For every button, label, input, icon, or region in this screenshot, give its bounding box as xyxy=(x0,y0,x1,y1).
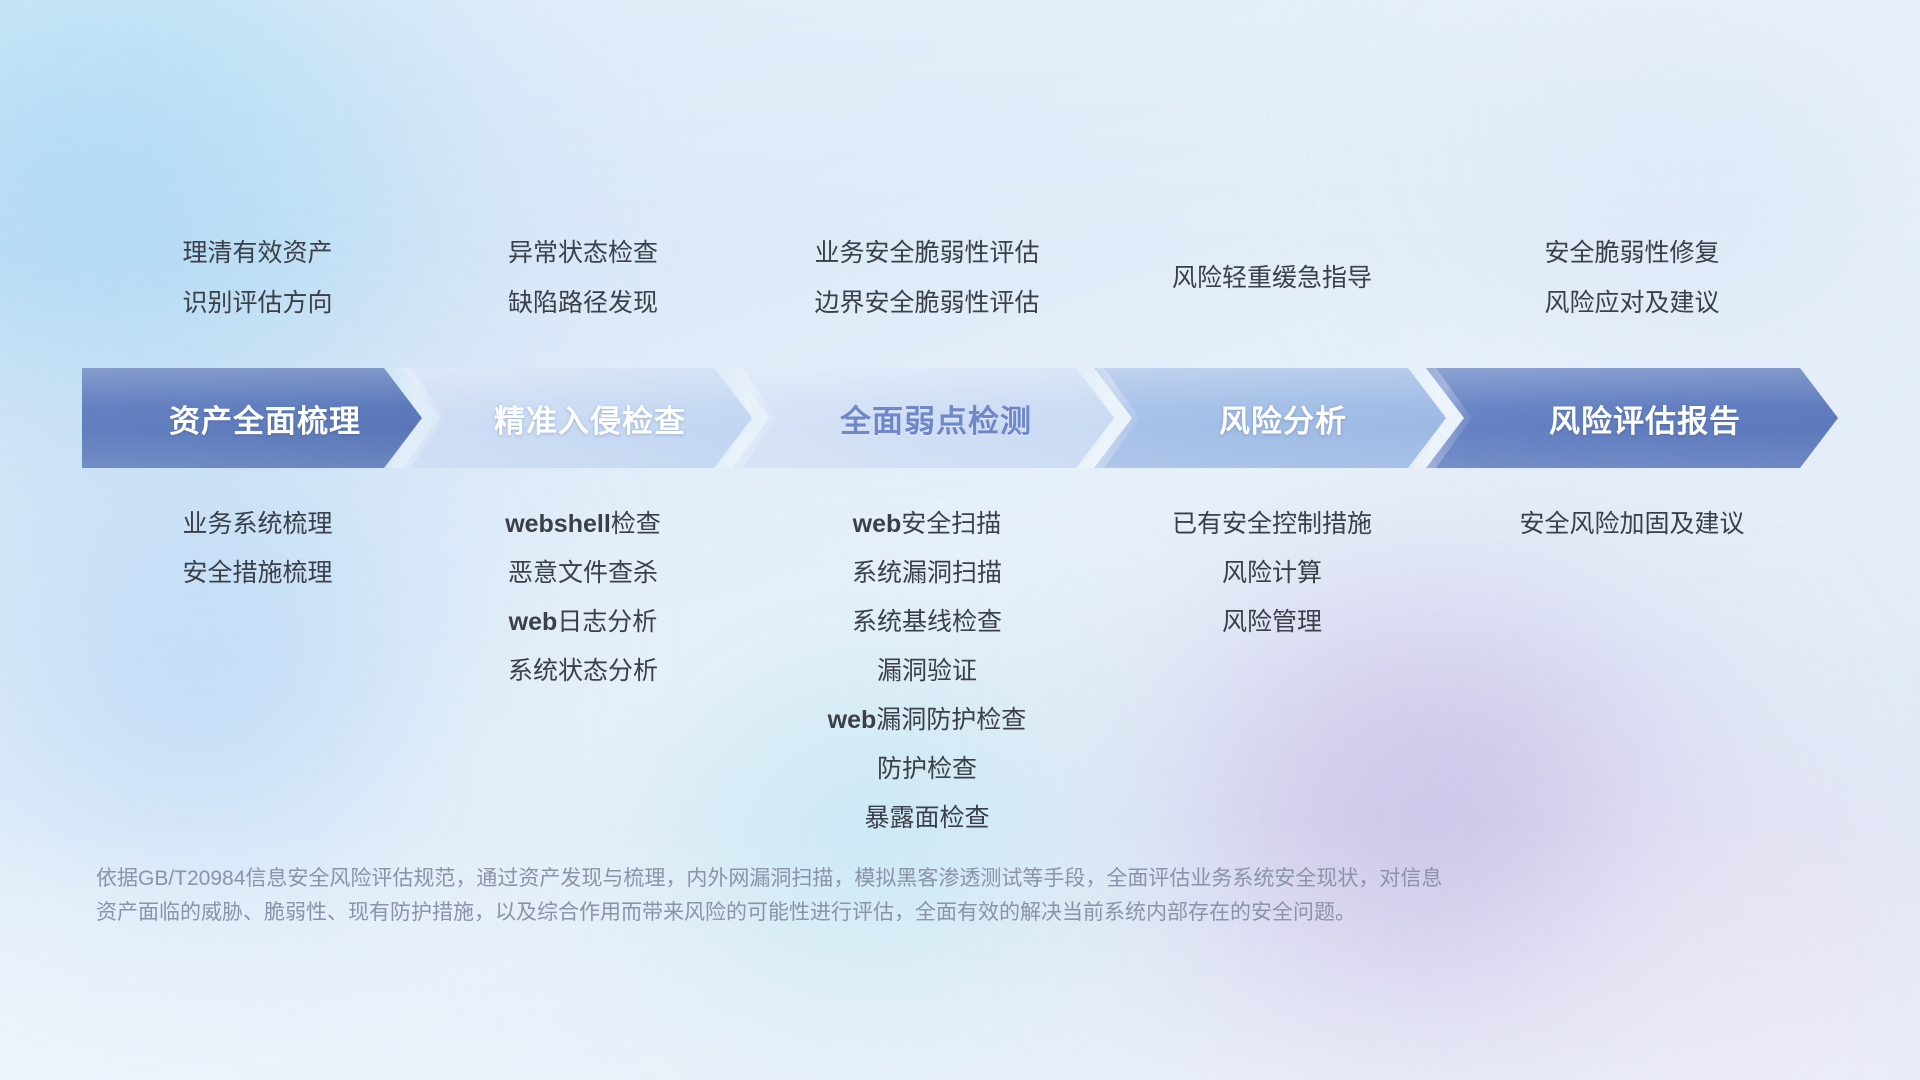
process-diagram: 理清有效资产 识别评估方向 异常状态检查 缺陷路径发现 业务安全脆弱性评估 边界… xyxy=(0,0,1920,1080)
detail-item: 恶意文件查杀 xyxy=(508,549,658,598)
detail-item: 系统状态分析 xyxy=(508,647,658,696)
top-descriptor-item: 安全脆弱性修复 xyxy=(1544,228,1719,278)
footer-line: 资产面临的威胁、脆弱性、现有防护措施，以及综合作用而带来风险的可能性进行评估，全… xyxy=(96,896,1696,930)
top-descriptor-item: 识别评估方向 xyxy=(182,278,332,328)
bottom-details-intrusion-check: webshell检查 恶意文件查杀 web日志分析 系统状态分析 xyxy=(419,500,747,830)
stage-chevron-banner: 资产全面梳理 精准入侵检查 全面弱点检测 风险分析 风险评估报告 xyxy=(82,368,1838,468)
detail-item: web日志分析 xyxy=(509,598,658,647)
stage-chevron-asset-inventory[interactable]: 资产全面梳理 xyxy=(82,368,422,468)
top-descriptor-item: 异常状态检查 xyxy=(508,228,658,278)
top-descriptors-risk-analysis: 风险轻重缓急指导 xyxy=(1107,228,1437,318)
stage-chevron-risk-report[interactable]: 风险评估报告 xyxy=(1426,368,1838,468)
detail-item: 防护检查 xyxy=(877,745,977,794)
bottom-details-risk-analysis: 已有安全控制措施 风险计算 风险管理 xyxy=(1107,500,1437,830)
footer-line: 依据GB/T20984信息安全风险评估规范，通过资产发现与梳理，内外网漏洞扫描，… xyxy=(96,862,1696,896)
detail-item-latin: webshell xyxy=(505,510,611,538)
top-descriptors-weakness-detection: 业务安全脆弱性评估 边界安全脆弱性评估 xyxy=(747,228,1107,318)
detail-item: 风险计算 xyxy=(1222,549,1322,598)
top-descriptors-intrusion-check: 异常状态检查 缺陷路径发现 xyxy=(419,228,747,318)
detail-item: 风险管理 xyxy=(1222,598,1322,647)
stage-title: 风险评估报告 xyxy=(1523,396,1741,441)
bottom-details-asset-inventory: 业务系统梳理 安全措施梳理 xyxy=(96,500,419,830)
bottom-details-weakness-detection: web安全扫描 系统漏洞扫描 系统基线检查 漏洞验证 web漏洞防护检查 防护检… xyxy=(747,500,1107,830)
top-descriptors-risk-report: 安全脆弱性修复 风险应对及建议 xyxy=(1437,228,1827,318)
detail-item: web漏洞防护检查 xyxy=(828,696,1027,745)
stage-title: 资产全面梳理 xyxy=(143,396,361,441)
footer-note: 依据GB/T20984信息安全风险评估规范，通过资产发现与梳理，内外网漏洞扫描，… xyxy=(96,862,1696,930)
detail-item: 业务系统梳理 xyxy=(182,500,332,549)
top-descriptor-item: 业务安全脆弱性评估 xyxy=(814,228,1039,278)
stage-title: 风险分析 xyxy=(1193,396,1347,441)
detail-item-latin: web xyxy=(509,608,558,636)
top-descriptor-item: 理清有效资产 xyxy=(182,228,332,278)
detail-item-cjk: 日志分析 xyxy=(557,608,657,636)
stage-title: 精准入侵检查 xyxy=(468,396,686,441)
detail-item-latin: web xyxy=(828,706,877,734)
top-descriptor-item: 边界安全脆弱性评估 xyxy=(814,278,1039,328)
detail-item: 漏洞验证 xyxy=(877,647,977,696)
top-descriptors-asset-inventory: 理清有效资产 识别评估方向 xyxy=(96,228,419,318)
detail-item: 安全风险加固及建议 xyxy=(1519,500,1744,549)
stage-chevron-weakness-detection[interactable]: 全面弱点检测 xyxy=(732,368,1114,468)
top-descriptor-item: 风险应对及建议 xyxy=(1544,278,1719,328)
top-descriptor-item: 风险轻重缓急指导 xyxy=(1172,253,1372,303)
detail-item-cjk: 漏洞防护检查 xyxy=(876,706,1026,734)
detail-item: 系统漏洞扫描 xyxy=(852,549,1002,598)
bottom-details-risk-report: 安全风险加固及建议 xyxy=(1437,500,1827,830)
top-descriptors-row: 理清有效资产 识别评估方向 异常状态检查 缺陷路径发现 业务安全脆弱性评估 边界… xyxy=(96,228,1840,318)
detail-item-latin: web xyxy=(853,510,902,538)
detail-item: 已有安全控制措施 xyxy=(1172,500,1372,549)
detail-item-cjk: 检查 xyxy=(611,510,661,538)
top-descriptor-item: 缺陷路径发现 xyxy=(508,278,658,328)
stage-chevron-risk-analysis[interactable]: 风险分析 xyxy=(1094,368,1446,468)
detail-item: 系统基线检查 xyxy=(852,598,1002,647)
stage-chevron-intrusion-check[interactable]: 精准入侵检查 xyxy=(402,368,752,468)
detail-item: 安全措施梳理 xyxy=(182,549,332,598)
stage-title: 全面弱点检测 xyxy=(814,396,1032,441)
detail-item-cjk: 安全扫描 xyxy=(901,510,1001,538)
detail-item: 暴露面检查 xyxy=(864,794,989,843)
bottom-details-row: 业务系统梳理 安全措施梳理 webshell检查 恶意文件查杀 web日志分析 … xyxy=(96,500,1840,830)
detail-item: webshell检查 xyxy=(505,500,661,549)
detail-item: web安全扫描 xyxy=(853,500,1002,549)
